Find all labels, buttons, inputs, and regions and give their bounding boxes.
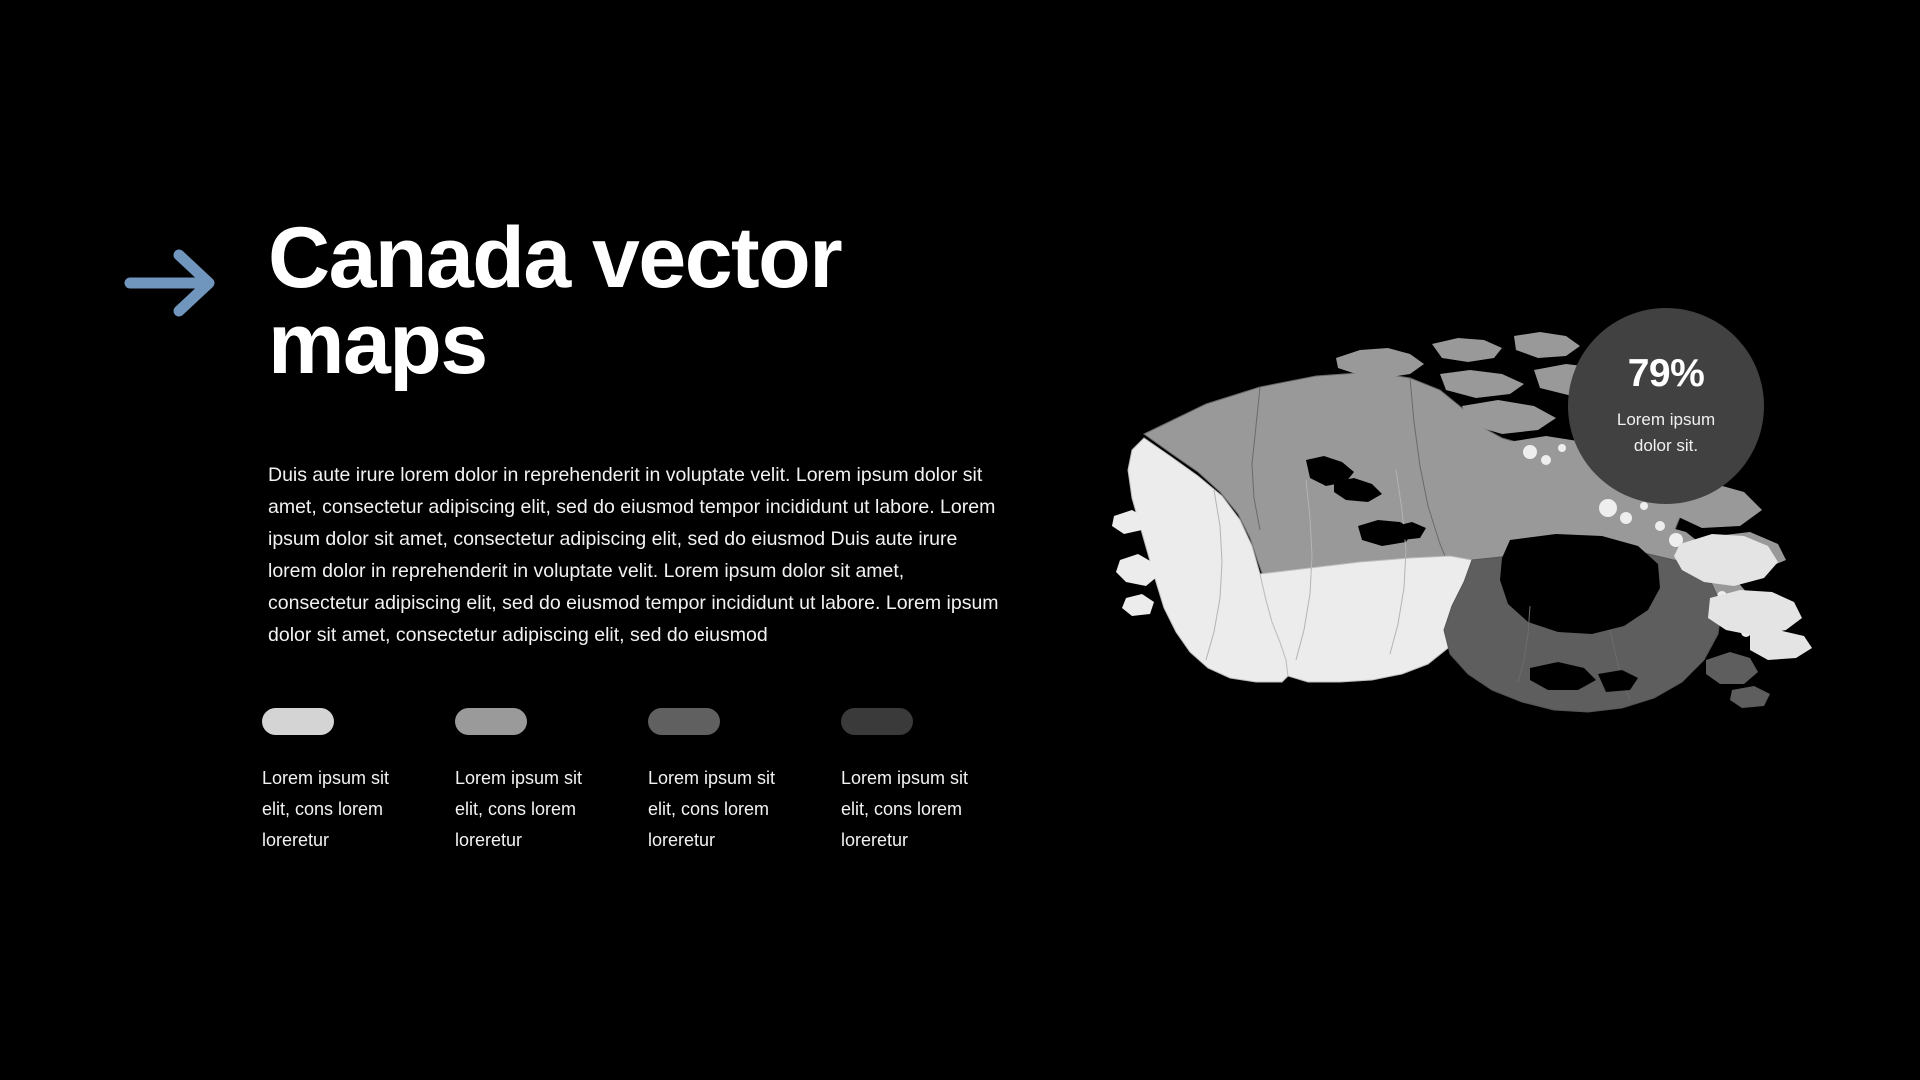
legend-item[interactable]: Lorem ipsum sit elit, cons lorem loreret… <box>648 708 841 856</box>
body-paragraph: Duis aute irure lorem dolor in reprehend… <box>124 459 1008 651</box>
legend: Lorem ipsum sit elit, cons lorem loreret… <box>262 708 1034 856</box>
legend-item[interactable]: Lorem ipsum sit elit, cons lorem loreret… <box>455 708 648 856</box>
legend-swatch-4 <box>841 708 913 735</box>
legend-label-1: Lorem ipsum sit elit, cons lorem loreret… <box>262 763 410 856</box>
stat-badge[interactable]: 79% Lorem ipsum dolor sit. <box>1568 308 1764 504</box>
arrow-right-icon <box>124 247 220 319</box>
legend-label-4: Lorem ipsum sit elit, cons lorem loreret… <box>841 763 989 856</box>
stat-caption: Lorem ipsum dolor sit. <box>1601 407 1731 459</box>
legend-item[interactable]: Lorem ipsum sit elit, cons lorem loreret… <box>841 708 1034 856</box>
legend-swatch-3 <box>648 708 720 735</box>
left-content-column: Canada vector maps Duis aute irure lorem… <box>124 215 1004 651</box>
slide-canvas: Canada vector maps Duis aute irure lorem… <box>0 0 1920 1080</box>
page-title: Canada vector maps <box>124 215 968 387</box>
stat-value: 79% <box>1628 354 1705 393</box>
legend-swatch-2 <box>455 708 527 735</box>
legend-item[interactable]: Lorem ipsum sit elit, cons lorem loreret… <box>262 708 455 856</box>
title-row: Canada vector maps <box>124 215 1004 387</box>
legend-swatch-1 <box>262 708 334 735</box>
legend-label-2: Lorem ipsum sit elit, cons lorem loreret… <box>455 763 603 856</box>
legend-label-3: Lorem ipsum sit elit, cons lorem loreret… <box>648 763 796 856</box>
